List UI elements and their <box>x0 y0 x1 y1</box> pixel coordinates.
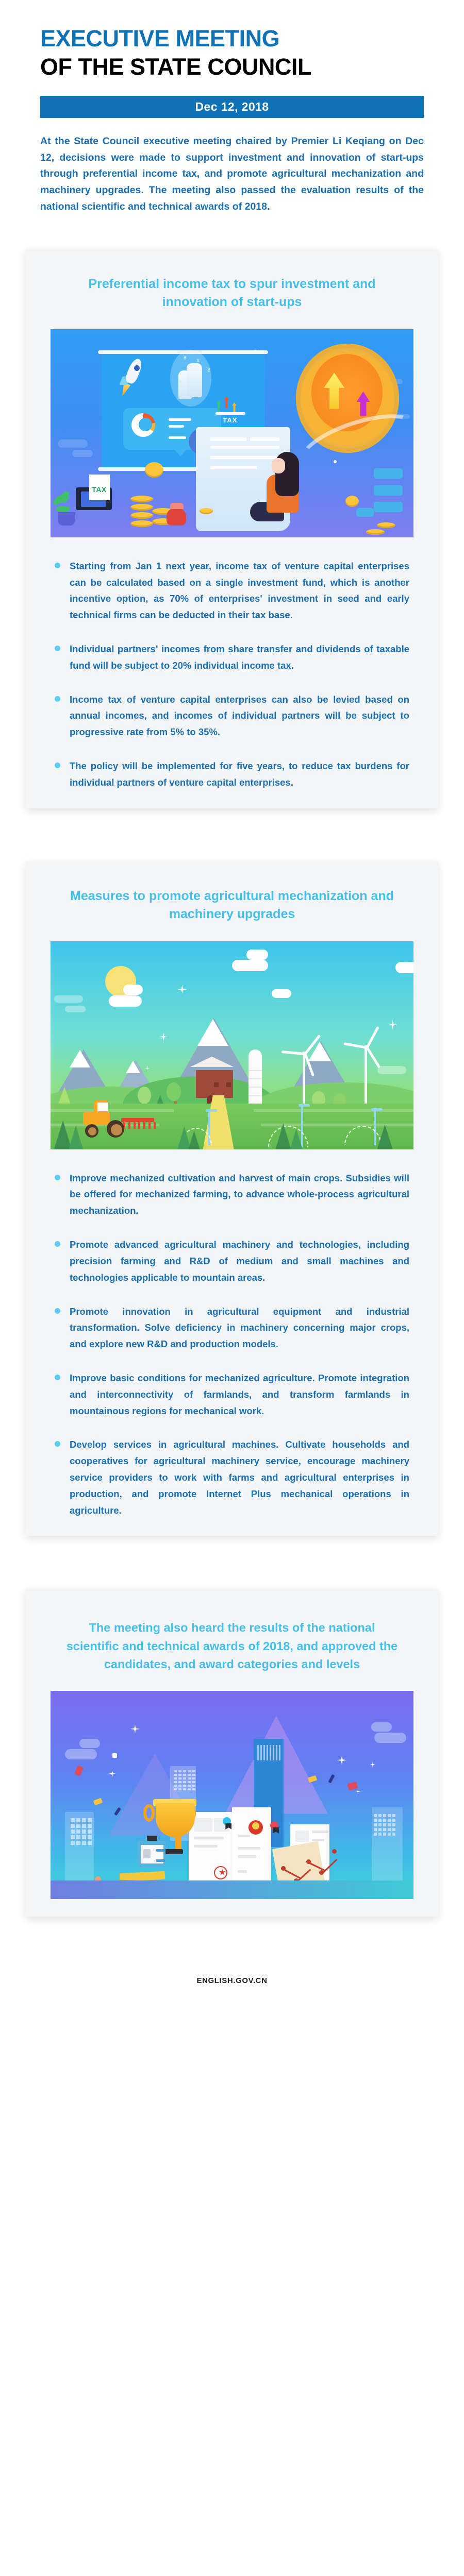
bullet-dot-icon <box>55 696 60 702</box>
bullet-text: The policy will be implemented for five … <box>70 758 409 791</box>
section-title: The meeting also heard the results of th… <box>26 1589 438 1673</box>
bullet-list: Starting from Jan 1 next year, income ta… <box>55 558 409 791</box>
list-item: Promote innovation in agricultural equip… <box>55 1303 409 1352</box>
list-item: Income tax of venture capital enterprise… <box>55 691 409 740</box>
list-item: Individual partners' incomes from share … <box>55 641 409 674</box>
tax-receipt-label: TAX <box>92 485 106 494</box>
bullet-text: Individual partners' incomes from share … <box>70 641 409 674</box>
section-card-agriculture: Measures to promote agricultural mechani… <box>26 861 438 1536</box>
date-label: Dec 12, 2018 <box>195 100 269 114</box>
list-item: Promote advanced agricultural machinery … <box>55 1236 409 1285</box>
bullet-dot-icon <box>55 1175 60 1180</box>
bullet-dot-icon <box>55 646 60 651</box>
tax-board-label: TAX <box>223 416 237 424</box>
bullet-text: Starting from Jan 1 next year, income ta… <box>70 558 409 623</box>
bullet-dot-icon <box>55 563 60 568</box>
bullet-dot-icon <box>55 1375 60 1380</box>
list-item: Develop services in agricultural machine… <box>55 1436 409 1518</box>
bullet-text: Develop services in agricultural machine… <box>70 1436 409 1518</box>
bullet-dot-icon <box>55 1308 60 1314</box>
list-item: The policy will be implemented for five … <box>55 758 409 791</box>
section-card-tax: Preferential income tax to spur investme… <box>26 249 438 808</box>
site-label: ENGLISH.GOV.CN <box>196 1976 267 1985</box>
list-item: Starting from Jan 1 next year, income ta… <box>55 558 409 623</box>
bullet-text: Promote innovation in agricultural equip… <box>70 1303 409 1352</box>
page-title-line-2: OF THE STATE COUNCIL <box>40 53 424 81</box>
farm-mechanization-illustration <box>51 941 413 1149</box>
bullet-text: Promote advanced agricultural machinery … <box>70 1236 409 1285</box>
section-title: Measures to promote agricultural mechani… <box>26 861 438 924</box>
list-item: Improve basic conditions for mechanized … <box>55 1370 409 1419</box>
date-banner: Dec 12, 2018 <box>40 96 424 118</box>
science-awards-illustration <box>51 1691 413 1899</box>
infographic-page: EXECUTIVE MEETING OF THE STATE COUNCIL D… <box>0 0 464 2576</box>
bullet-text: Income tax of venture capital enterprise… <box>70 691 409 740</box>
list-item: Improve mechanized cultivation and harve… <box>55 1170 409 1219</box>
section-title: Preferential income tax to spur investme… <box>26 249 438 312</box>
masthead: EXECUTIVE MEETING OF THE STATE COUNCIL D… <box>0 0 464 118</box>
tax-startup-illustration: ¥ ¥ ¥ ¥ TAX <box>51 329 413 537</box>
bullet-dot-icon <box>55 762 60 768</box>
bullet-text: Improve basic conditions for mechanized … <box>70 1370 409 1419</box>
page-title-line-1: EXECUTIVE MEETING <box>40 25 424 53</box>
intro-paragraph: At the State Council executive meeting c… <box>40 133 424 215</box>
bullet-list: Improve mechanized cultivation and harve… <box>55 1170 409 1519</box>
section-card-awards: The meeting also heard the results of th… <box>26 1589 438 1917</box>
bullet-dot-icon <box>55 1441 60 1447</box>
bullet-text: Improve mechanized cultivation and harve… <box>70 1170 409 1219</box>
footer: ENGLISH.GOV.CN <box>0 1976 464 1986</box>
bullet-dot-icon <box>55 1241 60 1247</box>
